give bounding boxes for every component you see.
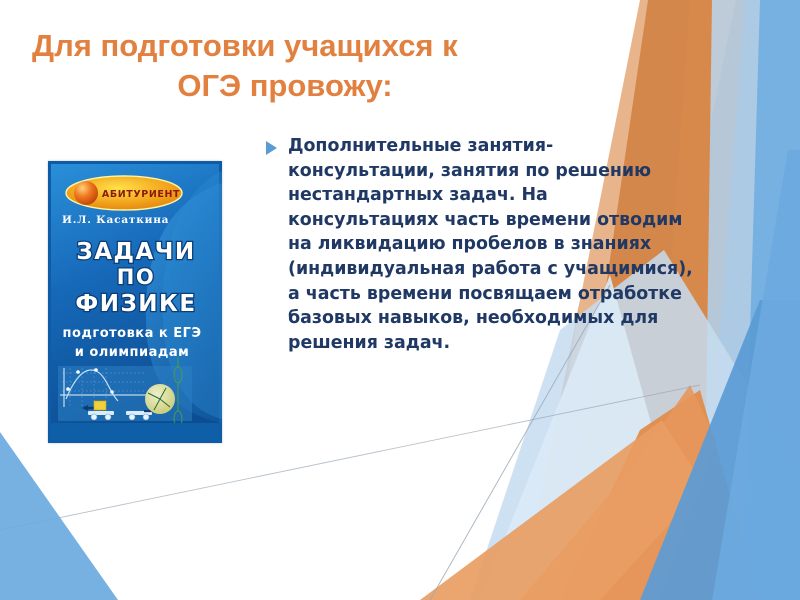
decor-orange-band-bottom <box>520 385 716 600</box>
book-subtitle-line-1: подготовка к ЕГЭ <box>62 326 201 341</box>
book-diagram-panel <box>58 357 192 427</box>
book-subtitle-line-2: и олимпиадам <box>75 345 190 360</box>
book-bottom-band <box>51 423 219 440</box>
book-cover-image: АБИТУРИЕНТ И.Л. Касаткина ЗАДАЧИ ПО ФИЗИ… <box>48 161 222 443</box>
book-title-line-2: ПО <box>117 265 155 289</box>
page-title: Для подготовки учащихся к ОГЭ провожу: <box>28 26 498 106</box>
slide-canvas: Для подготовки учащихся к ОГЭ провожу: <box>0 0 800 600</box>
body-paragraph: Дополнительные занятия-консультации, зан… <box>288 134 696 355</box>
triangle-bullet-icon <box>266 134 288 155</box>
decor-orange-band-bottom-2 <box>420 420 704 600</box>
decor-left-blue-wedge <box>0 432 118 600</box>
decor-bright-blue-bottom-2 <box>712 150 800 600</box>
page-title-line-2: ОГЭ провожу: <box>28 66 498 106</box>
book-badge-ball <box>74 181 98 205</box>
body-content: Дополнительные занятия-консультации, зан… <box>266 134 696 355</box>
decor-orange-wedge-bottom <box>560 390 760 600</box>
book-author: И.Л. Касаткина <box>62 214 169 226</box>
page-title-line-1: Для подготовки учащихся к <box>28 26 498 66</box>
book-title-line-3: ФИЗИКЕ <box>75 291 196 317</box>
book-title-line-1: ЗАДАЧИ <box>76 239 195 265</box>
book-badge-label: АБИТУРИЕНТ <box>102 189 180 200</box>
